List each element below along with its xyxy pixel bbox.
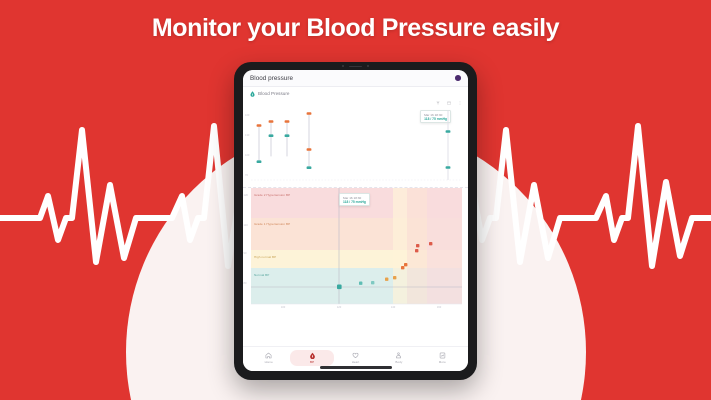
svg-text:80: 80 [244, 281, 247, 285]
nav-item-bp[interactable]: BP [290, 350, 333, 366]
nav-label: Body [395, 360, 402, 364]
svg-text:120: 120 [337, 305, 342, 308]
svg-text:100: 100 [245, 153, 250, 157]
section-header: Blood Pressure [243, 87, 468, 100]
svg-text:110: 110 [244, 223, 249, 227]
nav-label: Home [265, 360, 273, 364]
heart-icon [352, 352, 359, 359]
nav-label: Heart [352, 360, 360, 364]
report-icon [439, 352, 446, 359]
device-camera-notch [333, 65, 379, 67]
svg-text:120: 120 [244, 193, 249, 197]
speaker-grille-icon [349, 66, 362, 68]
chart-tooltip: Mar 16 18:30 118 / 75 mmHg [339, 193, 370, 206]
account-avatar[interactable] [455, 75, 461, 81]
bottom-chart-plot: 120 110 90 80 100 120 140 160 [243, 188, 468, 308]
nav-label: BP [310, 360, 314, 364]
body-icon [395, 352, 402, 359]
nav-item-more[interactable]: More [421, 350, 464, 366]
home-icon [265, 352, 272, 359]
top-range-chart[interactable]: Mar 16 18:30 118 / 75 mmHg 160 130 100 7… [243, 100, 468, 188]
home-indicator [320, 366, 392, 368]
svg-text:160: 160 [437, 305, 442, 308]
svg-text:130: 130 [245, 133, 250, 137]
bottom-classification-chart[interactable]: 120 110 90 80 100 120 140 160 [243, 188, 468, 346]
svg-text:140: 140 [391, 305, 396, 308]
promo-banner: Monitor your Blood Pressure easily Blood… [0, 0, 711, 400]
sensor-dot-icon [367, 65, 369, 67]
device-screen: Blood pressure Blood Pressure [243, 70, 468, 371]
camera-dot-icon [342, 65, 344, 67]
page-title: Monitor your Blood Pressure easily [0, 14, 711, 43]
app-header: Blood pressure [243, 70, 468, 87]
tablet-device-mockup: Blood pressure Blood Pressure [234, 62, 477, 380]
blood-pressure-icon [309, 352, 316, 359]
svg-text:100: 100 [281, 305, 286, 308]
svg-text:160: 160 [245, 113, 250, 117]
nav-label: More [439, 360, 446, 364]
nav-item-heart[interactable]: Heart [334, 350, 377, 366]
tooltip-value: 118 / 75 mmHg [343, 200, 366, 204]
app-title: Blood pressure [250, 75, 293, 82]
svg-text:90: 90 [244, 251, 247, 255]
nav-item-home[interactable]: Home [247, 350, 290, 366]
top-chart-plot: 160 130 100 70 [243, 100, 468, 188]
section-label: Blood Pressure [258, 91, 289, 96]
nav-item-body[interactable]: Body [377, 350, 420, 366]
svg-text:70: 70 [245, 173, 248, 177]
blood-pressure-icon [250, 91, 255, 97]
